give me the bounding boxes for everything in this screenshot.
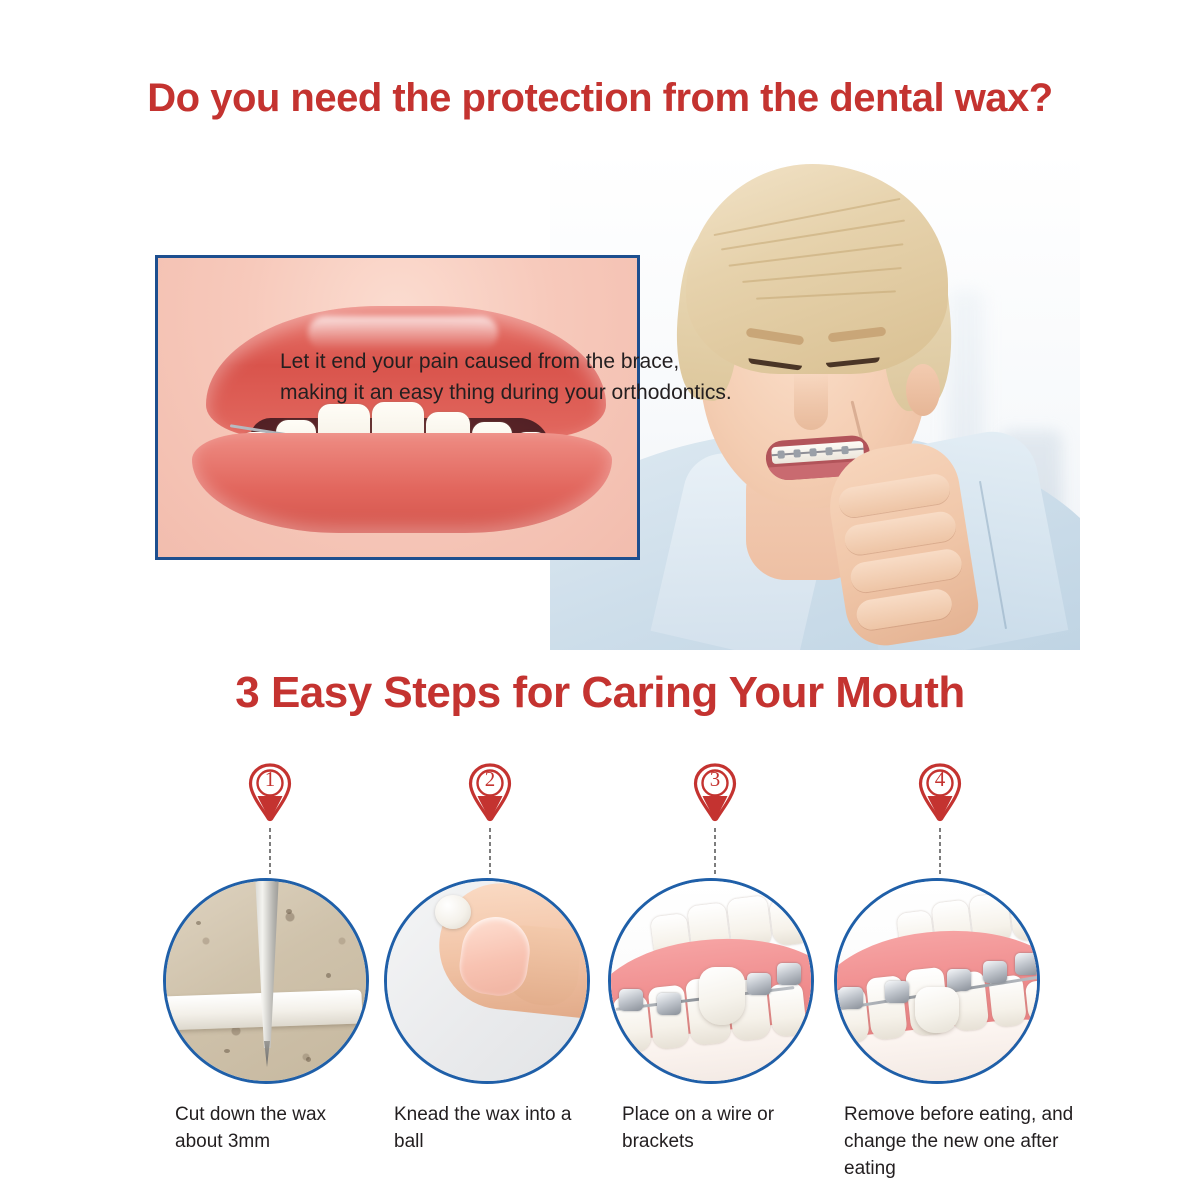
step-caption-line-1: Cut down the wax (175, 1101, 390, 1128)
map-pin-icon: 2 (467, 762, 513, 822)
step-caption-line-3: eating (844, 1155, 1079, 1182)
connector-dotted-line (714, 828, 716, 876)
wax-ball (435, 895, 471, 929)
step-caption: Knead the wax into a ball (394, 1101, 609, 1155)
step-number: 4 (917, 767, 963, 792)
step-caption-line-2: brackets (622, 1128, 837, 1155)
step-caption-line-2: change the new one after (844, 1128, 1079, 1155)
hero-caption-line-2: making it an easy thing during your orth… (280, 377, 820, 408)
bracket (657, 993, 681, 1015)
step-caption-line-2: ball (394, 1128, 609, 1155)
step-image-knead-wax (384, 878, 590, 1084)
step-caption-line-1: Knead the wax into a (394, 1101, 609, 1128)
step-caption-line-1: Remove before eating, and (844, 1101, 1079, 1128)
step-number: 1 (247, 767, 293, 792)
hero-caption-line-1: Let it end your pain caused from the bra… (280, 346, 820, 377)
step-image-cut-wax (163, 878, 369, 1084)
steps-section: 1 Cut down the wax about 3mm 2 (0, 756, 1200, 1186)
step-caption: Remove before eating, and change the new… (844, 1101, 1079, 1182)
step-number: 2 (467, 767, 513, 792)
hero-caption: Let it end your pain caused from the bra… (280, 346, 820, 408)
map-pin-icon: 4 (917, 762, 963, 822)
lip-gloss-highlight (308, 316, 498, 350)
hero-section: Let it end your pain caused from the bra… (120, 150, 1080, 650)
map-pin-icon: 3 (692, 762, 738, 822)
wax-on-bracket (699, 967, 745, 1025)
wax-on-bracket (915, 987, 959, 1033)
bracket (1015, 953, 1039, 975)
step-caption-line-2: about 3mm (175, 1128, 390, 1155)
step-number: 3 (692, 767, 738, 792)
bracket (885, 981, 909, 1003)
bracket (747, 973, 771, 995)
page-title: Do you need the protection from the dent… (0, 76, 1200, 121)
step-image-place-on-bracket (608, 878, 814, 1084)
step-caption-line-1: Place on a wire or (622, 1101, 837, 1128)
step-image-remove-before-eating (834, 878, 1040, 1084)
bracket (983, 961, 1007, 983)
map-pin-icon: 1 (247, 762, 293, 822)
step-caption: Cut down the wax about 3mm (175, 1101, 390, 1155)
ear (906, 364, 940, 416)
bracket (839, 987, 863, 1009)
step-caption: Place on a wire or brackets (622, 1101, 837, 1155)
bracket (619, 989, 643, 1011)
connector-dotted-line (489, 828, 491, 876)
connector-dotted-line (269, 828, 271, 876)
connector-dotted-line (939, 828, 941, 876)
bracket (777, 963, 801, 985)
steps-title: 3 Easy Steps for Caring Your Mouth (0, 668, 1200, 718)
lower-lip (192, 433, 612, 533)
